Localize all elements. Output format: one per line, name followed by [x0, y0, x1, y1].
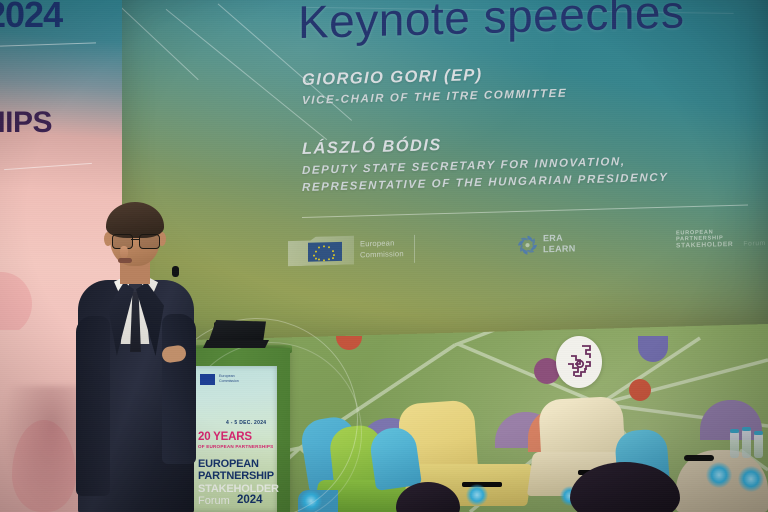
left-wall-year: 2024 — [0, 0, 62, 36]
stage-led-light — [706, 462, 732, 488]
badge-motif-icon — [562, 342, 596, 382]
banner-date: 4 - 5 DEC. 2024 — [226, 420, 266, 426]
banner-ec-line2: Commission — [219, 379, 239, 384]
banner-title-line1: EUROPEAN — [198, 458, 259, 470]
bottle-cap — [742, 427, 751, 431]
podium-banner: European Commission 4 - 5 DEC. 2024 20 Y… — [189, 366, 277, 512]
banner-forum: Forum — [198, 496, 230, 507]
podium-laptop-base — [203, 340, 269, 348]
water-bottle — [742, 430, 751, 458]
table-item-dark — [684, 455, 714, 461]
conference-photo: Keynote speeches GIORGIO GORI (EP) VICE-… — [0, 0, 768, 512]
banner-title-line2: PARTNERSHIP — [198, 470, 274, 482]
bottle-cap — [754, 431, 763, 435]
eyeglasses-icon — [112, 234, 158, 247]
banner-anniversary-sub: OF EUROPEAN PARTNERSHIPS — [198, 444, 273, 449]
banner-year: 2024 — [237, 495, 263, 507]
banner-title: EUROPEAN PARTNERSHIP — [198, 458, 274, 483]
water-bottle — [730, 432, 739, 458]
banner-eu-flag-icon — [200, 374, 215, 385]
stage-led-light — [738, 466, 764, 492]
left-wall-word: HIPS — [0, 106, 52, 140]
speaker-hair — [106, 202, 164, 238]
bottle-cap — [730, 429, 739, 433]
banner-ec-logo: European Commission — [198, 372, 254, 390]
keynote-speaker — [76, 206, 196, 512]
water-bottle — [754, 434, 763, 458]
projection-screen: Keynote speeches GIORGIO GORI (EP) VICE-… — [122, 0, 768, 342]
banner-anniversary: 20 YEARS — [198, 432, 252, 444]
stage-led-light — [466, 484, 488, 506]
